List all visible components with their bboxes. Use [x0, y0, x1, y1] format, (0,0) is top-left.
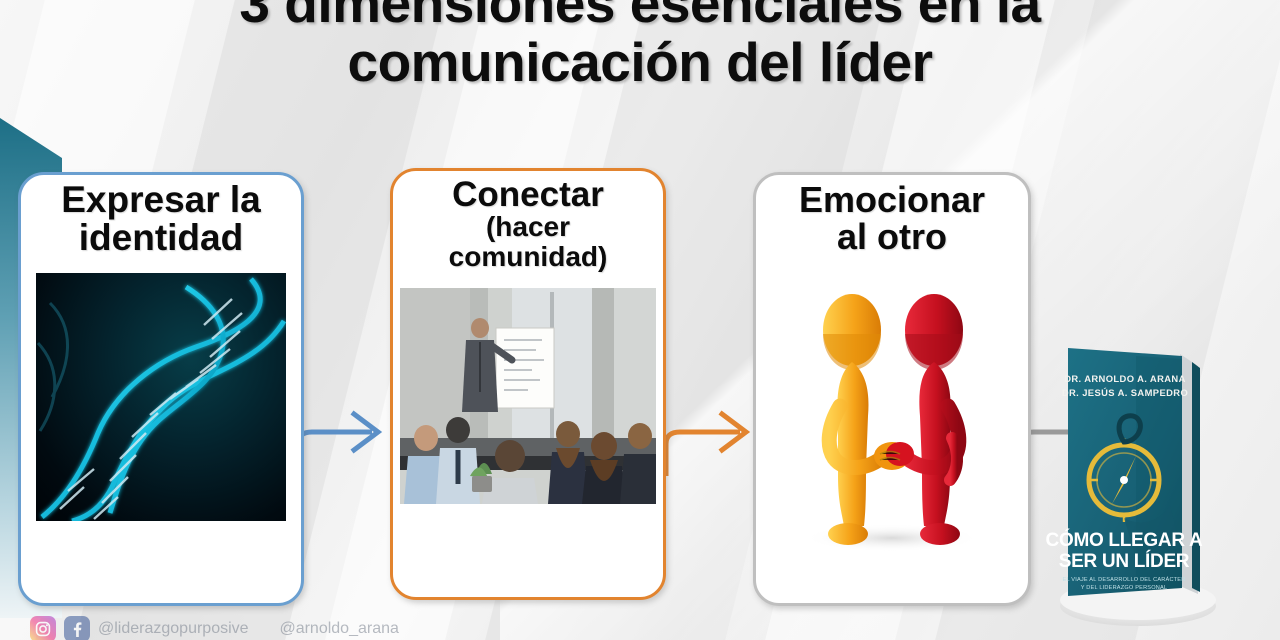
arrow-card1-to-card2	[292, 398, 388, 478]
instagram-handle: @liderazgopurposive	[98, 620, 249, 637]
arrow-card2-to-card3	[660, 398, 756, 478]
instagram-icon[interactable]	[30, 616, 56, 640]
facebook-handle: @arnoldo_arana	[279, 620, 398, 637]
card-emocionar-al-otro[interactable]: Emocionar al otro	[753, 172, 1031, 606]
card3-title-line1: Emocionar	[799, 179, 985, 220]
slide-title: 3 dimensiones esenciales en la comunicac…	[0, 0, 1280, 93]
card3-title-line2: al otro	[760, 218, 1024, 255]
card-conectar-hacer-comunidad[interactable]: Conectar (hacer comunidad)	[390, 168, 666, 600]
card3-media	[756, 256, 1028, 603]
slide-title-line2: comunicación del líder	[0, 33, 1280, 92]
social-handles: @liderazgopurposive @arnoldo_arana	[98, 620, 399, 638]
card1-title-line2: identidad	[25, 219, 297, 257]
slide-title-line1: 3 dimensiones esenciales en la	[239, 0, 1040, 34]
card2-title-line2: (hacer	[397, 212, 659, 242]
book-title-line1: CÓMO LLEGAR A	[1046, 529, 1203, 551]
card1-title: Expresar la identidad	[21, 175, 301, 257]
card-expresar-la-identidad[interactable]: Expresar la identidad	[18, 172, 304, 606]
social-footer: @liderazgopurposive @arnoldo_arana	[30, 616, 399, 640]
card2-title: Conectar (hacer comunidad)	[393, 171, 663, 272]
handshake-figures-image	[782, 288, 1002, 554]
facebook-icon[interactable]	[64, 616, 90, 640]
card1-media	[21, 257, 301, 603]
business-meeting-photo	[400, 288, 656, 504]
card3-title: Emocionar al otro	[756, 175, 1028, 256]
book-author-1: DR. ARNOLDO A. ARANA	[1064, 373, 1186, 384]
book-subtitle-line1: EL VIAJE AL DESARROLLO DEL CARÁCTER	[1063, 576, 1186, 583]
card2-title-line3: comunidad)	[397, 242, 659, 272]
book-subtitle-line2: Y DEL LIDERAZGO PERSONAL	[1081, 585, 1168, 591]
book-cover-como-llegar-a-ser-un-lider[interactable]: DR. ARNOLDO A. ARANA DR. JESÚS A. SAMPED…	[1040, 338, 1240, 628]
card1-title-line1: Expresar la	[61, 179, 261, 220]
dna-helix-image	[36, 273, 286, 521]
card2-media	[393, 272, 663, 597]
card2-title-line1: Conectar	[452, 175, 604, 214]
book-author-2: DR. JESÚS A. SAMPEDRO	[1062, 387, 1188, 398]
book-title-line2: SER UN LÍDER	[1059, 550, 1190, 572]
